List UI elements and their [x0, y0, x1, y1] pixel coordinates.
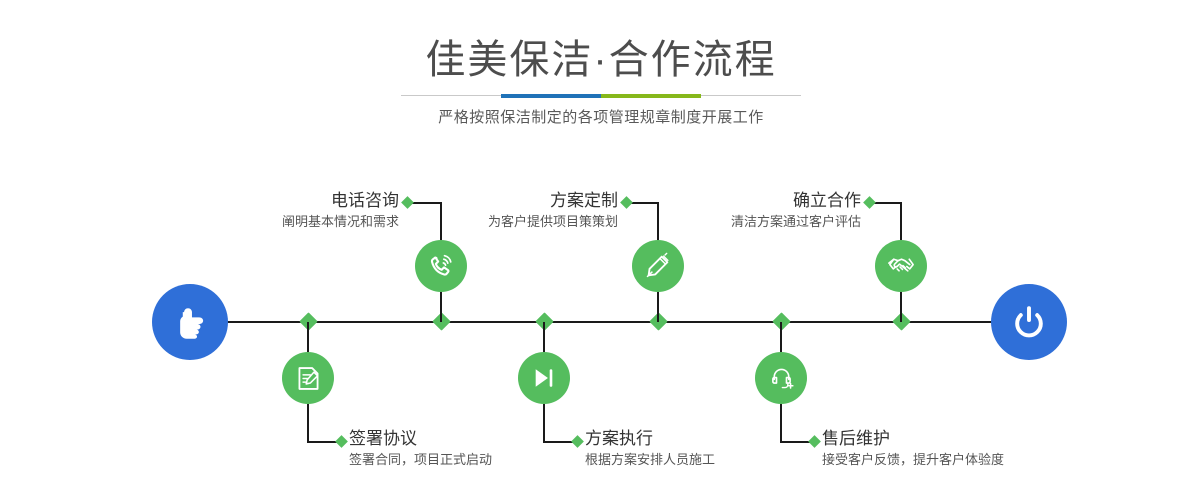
timeline-start-node [152, 284, 228, 360]
play-execute-icon [530, 364, 558, 392]
page-subtitle: 严格按照保洁制定的各项管理规章制度开展工作 [0, 106, 1202, 130]
step-title: 确立合作 [605, 190, 861, 212]
step-label-elbow-v [307, 404, 309, 442]
step-title: 电话咨询 [143, 190, 399, 212]
step-connector-stem [440, 292, 442, 322]
step-node-document-edit[interactable] [282, 352, 334, 404]
step-connector-stem [780, 322, 782, 352]
step-connector-stem [307, 322, 309, 352]
step-desc: 阐明基本情况和需求 [143, 212, 399, 232]
step-node-play-execute[interactable] [518, 352, 570, 404]
divider-segment-blue [501, 94, 601, 98]
step-node-pencil-design[interactable] [632, 240, 684, 292]
divider-segment-green [601, 94, 701, 98]
document-edit-icon [294, 364, 323, 393]
pointing-hand-icon [169, 301, 211, 343]
phone-call-icon [426, 251, 456, 281]
step-connector-stem [657, 292, 659, 322]
timeline-end-node [991, 284, 1067, 360]
step-node-headset-support[interactable] [755, 352, 807, 404]
headset-support-icon [767, 364, 796, 393]
step-title: 方案定制 [362, 190, 618, 212]
step-connector-stem [900, 292, 902, 322]
step-label-elbow-v [780, 404, 782, 442]
title-divider [401, 94, 801, 98]
step-desc: 接受客户反馈，提升客户体验度 [822, 450, 1142, 470]
step-label-tip [335, 435, 348, 448]
step-node-phone-call[interactable] [415, 240, 467, 292]
step-label-1: 电话咨询 阐明基本情况和需求 [143, 190, 399, 232]
power-icon [1008, 301, 1050, 343]
pencil-design-icon [643, 251, 673, 281]
page-title: 佳美保洁·合作流程 [0, 36, 1202, 84]
step-label-tip [863, 196, 876, 209]
step-node-handshake[interactable] [875, 240, 927, 292]
step-label-elbow-v [900, 202, 902, 240]
step-label-5: 确立合作 清洁方案通过客户评估 [605, 190, 861, 232]
step-title: 售后维护 [822, 428, 1142, 450]
step-desc: 为客户提供项目策策划 [362, 212, 618, 232]
step-label-elbow-v [543, 404, 545, 442]
step-connector-stem [543, 322, 545, 352]
step-desc: 清洁方案通过客户评估 [605, 212, 861, 232]
handshake-icon [886, 251, 917, 282]
process-flow-infographic: 佳美保洁·合作流程 严格按照保洁制定的各项管理规章制度开展工作 [0, 0, 1202, 502]
step-label-3: 方案定制 为客户提供项目策策划 [362, 190, 618, 232]
step-label-6: 售后维护 接受客户反馈，提升客户体验度 [822, 428, 1142, 470]
